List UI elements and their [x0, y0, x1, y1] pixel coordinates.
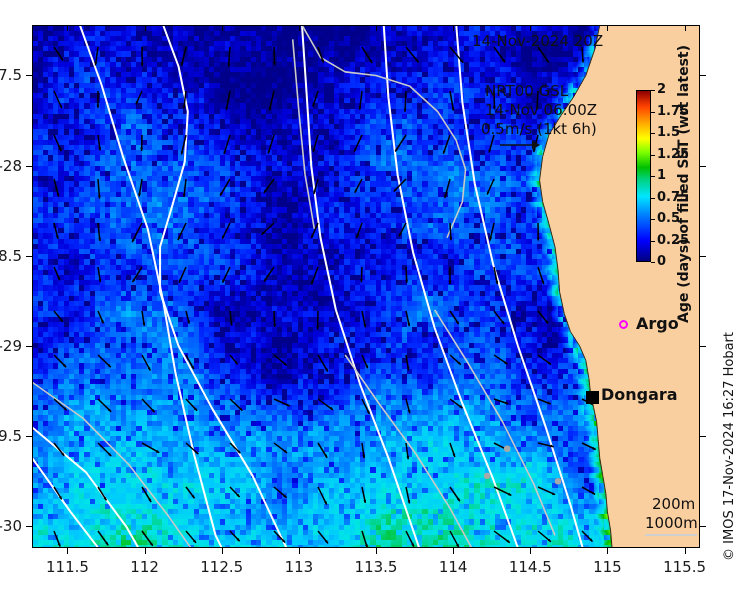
colorbar-tick: [651, 198, 655, 199]
x-tick-top: [67, 25, 68, 31]
y-tick-right: [700, 436, 706, 437]
colorbar-tick: [651, 90, 655, 91]
y-tick-label: -29: [0, 337, 22, 355]
y-tick: [26, 436, 32, 437]
y-tick-label: -27.5: [0, 66, 22, 84]
depth-key-1000m: 1000m: [645, 514, 698, 532]
y-tick: [26, 256, 32, 257]
x-tick-label: 114: [413, 558, 493, 576]
x-tick: [607, 548, 608, 554]
x-tick-top: [145, 25, 146, 31]
y-tick-label: -30: [0, 517, 22, 535]
annotation-line-2: 14-Nov 06:00Z: [485, 101, 597, 119]
y-tick-label: -28.5: [0, 247, 22, 265]
colorbar-tick: [651, 133, 655, 134]
y-tick-right: [700, 256, 706, 257]
colorbar-tick: [651, 155, 655, 156]
figure-root: 14-Nov-2024 20Z NRT00 GSL 14-Nov 06:00Z …: [0, 0, 740, 592]
y-tick-right: [700, 346, 706, 347]
x-tick-top: [530, 25, 531, 31]
copyright-text: © IMOS 17-Nov-2024 16:27 Hobart: [722, 332, 737, 561]
right-arrow-icon: [498, 137, 542, 153]
colorbar-tick: [651, 241, 655, 242]
land-and-coastline: [32, 25, 700, 548]
y-tick: [26, 526, 32, 527]
depth-key-200m: 200m: [652, 495, 695, 513]
colorbar-tick: [651, 176, 655, 177]
y-tick-right: [700, 166, 706, 167]
colorbar-tick: [651, 112, 655, 113]
x-tick-label: 112.5: [182, 558, 262, 576]
x-tick-label: 115.5: [645, 558, 725, 576]
colorbar-tick: [651, 262, 655, 263]
annotation-line-3: 0.5m/s (1kt 6h): [481, 120, 597, 138]
argo-marker-icon: [619, 320, 628, 329]
colorbar-title: Age (days) of filled SST (wrt latest): [676, 45, 692, 323]
y-tick-right: [700, 526, 706, 527]
y-tick-right: [700, 75, 706, 76]
x-tick-top: [299, 25, 300, 31]
x-tick-label: 112: [105, 558, 185, 576]
x-tick-label: 113: [259, 558, 339, 576]
colorbar-tick: [651, 219, 655, 220]
colorbar-tick-label: 2: [657, 82, 666, 97]
x-tick-label: 114.5: [490, 558, 570, 576]
colorbar-tick-label: 1: [657, 168, 666, 183]
depth-key-line: [645, 534, 697, 536]
dongara-legend-label: Dongara: [601, 385, 678, 404]
x-tick: [299, 548, 300, 554]
x-tick-label: 115: [567, 558, 647, 576]
y-tick-label: -29.5: [0, 427, 22, 445]
argo-legend-label: Argo: [636, 314, 679, 333]
x-tick-top: [222, 25, 223, 31]
x-tick-top: [376, 25, 377, 31]
x-tick-top: [685, 25, 686, 31]
timestamp-label: 14-Nov-2024 20Z: [472, 32, 603, 50]
x-tick: [685, 548, 686, 554]
x-tick: [530, 548, 531, 554]
y-tick-label: -28: [0, 157, 22, 175]
x-tick-label: 113.5: [336, 558, 416, 576]
x-tick-label: 111.5: [27, 558, 107, 576]
y-tick: [26, 166, 32, 167]
map-plot-area[interactable]: 14-Nov-2024 20Z NRT00 GSL 14-Nov 06:00Z …: [32, 25, 700, 548]
colorbar-tick-label: 0: [657, 254, 666, 269]
x-tick: [376, 548, 377, 554]
y-tick: [26, 346, 32, 347]
annotation-line-1: NRT00 GSL: [485, 82, 568, 100]
dongara-marker-icon: [586, 391, 599, 404]
x-tick-top: [453, 25, 454, 31]
x-tick: [222, 548, 223, 554]
x-tick: [453, 548, 454, 554]
x-tick-top: [607, 25, 608, 31]
y-tick: [26, 75, 32, 76]
colorbar: [636, 90, 651, 262]
x-tick: [145, 548, 146, 554]
x-tick: [67, 548, 68, 554]
